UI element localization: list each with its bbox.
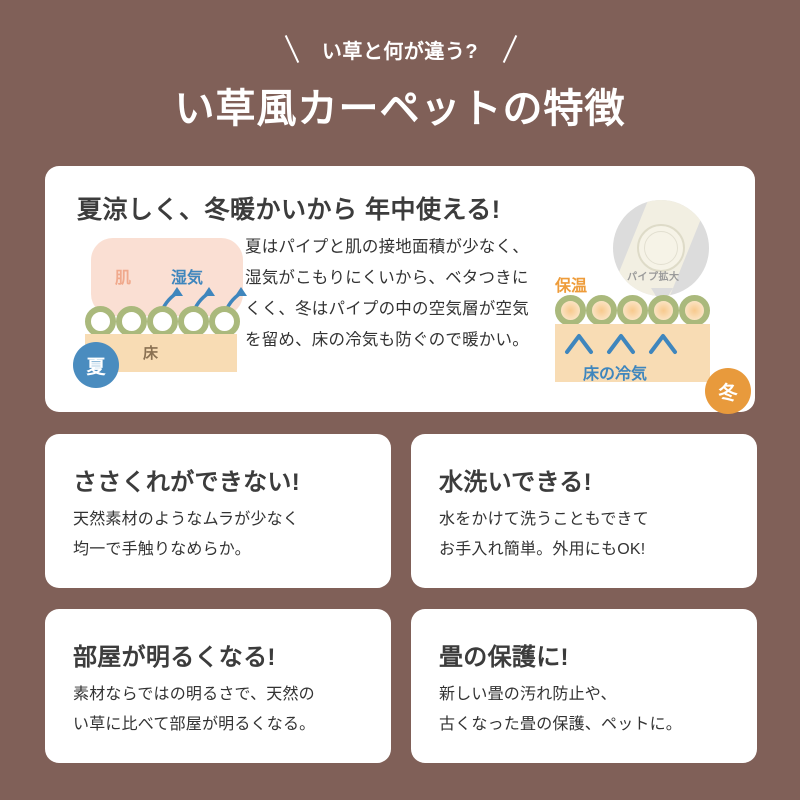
- hero-paragraph-line: 夏はパイプと肌の接地面積が少なく、: [245, 232, 535, 263]
- page-header: い草と何が違う? い草風カーペットの特徴: [0, 0, 800, 134]
- pipe-circle: [209, 306, 240, 337]
- winter-badge: 冬: [705, 368, 751, 414]
- feature-heading: 畳の保護に!: [411, 609, 757, 672]
- feature-body-line: 古くなった畳の保護、ペットに。: [439, 710, 757, 740]
- feature-card-brighter-room: 部屋が明るくなる! 素材ならではの明るさで、天然の い草に比べて部屋が明るくなる…: [45, 609, 391, 763]
- feature-body-line: 新しい畳の汚れ防止や、: [439, 680, 757, 710]
- summer-diagram: 肌 湿気: [73, 238, 253, 398]
- feature-body-line: い草に比べて部屋が明るくなる。: [73, 710, 391, 740]
- feature-body: 天然素材のようなムラが少なく 均一で手触りなめらか。: [45, 497, 391, 565]
- pipe-circle: [116, 306, 147, 337]
- summer-pipe-row: [85, 306, 240, 337]
- page-title: い草風カーペットの特徴: [0, 76, 800, 134]
- feature-card-no-fraying: ささくれができない! 天然素材のようなムラが少なく 均一で手触りなめらか。: [45, 434, 391, 588]
- hero-card: 夏涼しく、冬暖かいから 年中使える! 肌 湿気: [45, 166, 755, 412]
- magnified-pipe-ring: [637, 224, 685, 272]
- feature-heading: 部屋が明るくなる!: [45, 609, 391, 672]
- pipe-circle-warm: [648, 295, 679, 326]
- feature-body-line: 天然素材のようなムラが少なく: [73, 505, 391, 535]
- feature-card-tatami-protection: 畳の保護に! 新しい畳の汚れ防止や、 古くなった畳の保護、ペットに。: [411, 609, 757, 763]
- skin-label: 肌: [115, 264, 131, 288]
- pipe-circle: [85, 306, 116, 337]
- keep-warm-label: 保温: [555, 272, 587, 296]
- feature-body: 新しい畳の汚れ防止や、 古くなった畳の保護、ペットに。: [411, 672, 757, 740]
- hero-paragraph-line: くく、冬はパイプの中の空気層が空気: [245, 294, 535, 325]
- feature-body-line: お手入れ簡単。外用にもOK!: [439, 535, 757, 565]
- slash-right-decoration: [492, 34, 526, 64]
- pipe-circle-warm: [555, 295, 586, 326]
- winter-diagram: パイプ拡大 保温 床の冷気 冬: [555, 200, 745, 410]
- feature-heading: ささくれができない!: [45, 434, 391, 497]
- winter-pipe-row: [555, 295, 710, 326]
- pipe-circle: [178, 306, 209, 337]
- feature-body: 素材ならではの明るさで、天然の い草に比べて部屋が明るくなる。: [45, 672, 391, 740]
- feature-body-line: 素材ならではの明るさで、天然の: [73, 680, 391, 710]
- magnifier-label: パイプ拡大: [627, 268, 680, 283]
- hero-paragraph: 夏はパイプと肌の接地面積が少なく、 湿気がこもりにくいから、ベタつきに くく、冬…: [245, 232, 535, 356]
- pipe-circle-warm: [679, 295, 710, 326]
- floor-label: 床: [143, 342, 158, 363]
- slash-left-decoration: [274, 34, 308, 64]
- feature-body-line: 水をかけて洗うこともできて: [439, 505, 757, 535]
- feature-card-washable: 水洗いできる! 水をかけて洗うこともできて お手入れ簡単。外用にもOK!: [411, 434, 757, 588]
- eyebrow: い草と何が違う?: [0, 34, 800, 64]
- pipe-circle-warm: [617, 295, 648, 326]
- hero-paragraph-line: を留め、床の冷気も防ぐので暖かい。: [245, 325, 535, 356]
- cold-air-blocked-arrows-icon: [563, 330, 693, 356]
- pipe-circle: [147, 306, 178, 337]
- feature-heading: 水洗いできる!: [411, 434, 757, 497]
- cold-air-label: 床の冷気: [583, 360, 647, 384]
- pipe-circle-warm: [586, 295, 617, 326]
- hero-paragraph-line: 湿気がこもりにくいから、ベタつきに: [245, 263, 535, 294]
- feature-body: 水をかけて洗うこともできて お手入れ簡単。外用にもOK!: [411, 497, 757, 565]
- summer-badge: 夏: [73, 342, 119, 388]
- hero-body: 肌 湿気: [45, 226, 755, 416]
- eyebrow-text: い草と何が違う?: [322, 35, 478, 64]
- feature-body-line: 均一で手触りなめらか。: [73, 535, 391, 565]
